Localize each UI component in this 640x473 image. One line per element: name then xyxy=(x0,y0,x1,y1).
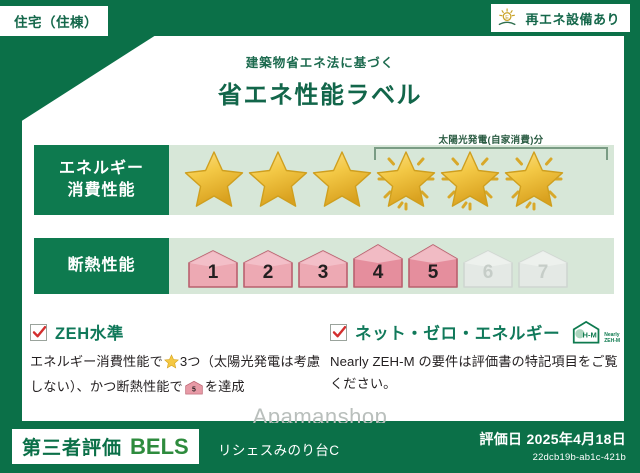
house-badge-1: 1 xyxy=(187,249,239,289)
energy-row-body: 太陽光発電(自家消費)分 xyxy=(169,145,614,215)
net-zero-text: Nearly ZEH-M の要件は評価書の特記項目をご覧ください。 xyxy=(330,351,622,395)
house-badge-scale: 1234567 xyxy=(169,243,569,289)
evaluation-date: 評価日 2025年4月18日 xyxy=(479,429,626,449)
inline-star-icon xyxy=(164,357,179,372)
insulation-row-body: 1234567 xyxy=(169,238,614,294)
renewable-tag: E 再エネ設備あり xyxy=(491,4,630,32)
category-tag: 住宅（住棟） xyxy=(0,6,108,36)
net-zero-title: ネット・ゼロ・エネルギー xyxy=(355,320,560,344)
building-name: リシェスみのり台C xyxy=(218,439,339,459)
star-filled xyxy=(183,149,245,211)
zeh-m-logo: H-M Nearly ZEH-M xyxy=(572,320,620,344)
zeh-m-logo-caption: Nearly ZEH-M xyxy=(604,333,620,344)
insulation-row-label: 断熱性能 xyxy=(34,238,169,294)
house-badge-number: 4 xyxy=(373,262,384,289)
label-frame: 住宅（住棟） E 再エネ設備あり 建築物省エネ法に基づく 省エネ性能ラベル xyxy=(0,0,640,473)
solar-bracket xyxy=(374,147,608,160)
evaluation-id: 22dcb19b-ab1c-421b xyxy=(479,452,626,463)
net-zero-head: ネット・ゼロ・エネルギー H-M Nearly ZEH-M xyxy=(330,320,622,344)
svg-text:5: 5 xyxy=(192,386,196,393)
sun-icon: E xyxy=(497,8,519,28)
checkbox-net-zero[interactable] xyxy=(330,324,347,341)
bels-badge-en: BELS xyxy=(130,434,189,460)
house-badge-5: 5 xyxy=(407,243,459,289)
house-badge-2: 2 xyxy=(242,249,294,289)
inline-house-badge: 5 xyxy=(185,380,203,402)
energy-rating-row: エネルギー 消費性能 太陽光発電(自家消費)分 xyxy=(34,145,614,215)
house-badge-number: 1 xyxy=(208,262,219,289)
house-badge-number: 2 xyxy=(263,262,274,289)
renewable-tag-label: 再エネ設備あり xyxy=(525,9,620,28)
house-badge-4: 4 xyxy=(352,243,404,289)
checkbox-zeh-standard[interactable] xyxy=(30,324,47,341)
house-badge-number: 7 xyxy=(538,262,549,289)
svg-text:E: E xyxy=(506,15,510,21)
house-badge-7: 7 xyxy=(517,249,569,289)
house-badge-number: 5 xyxy=(428,262,439,289)
title-block: 建築物省エネ法に基づく 省エネ性能ラベル xyxy=(0,52,640,110)
zeh-standard-box: ZEH水準 エネルギー消費性能で3つ（太陽光発電は考慮しない）、かつ断熱性能で5… xyxy=(30,320,322,402)
net-zero-energy-box: ネット・ゼロ・エネルギー H-M Nearly ZEH-M Nearly ZEH… xyxy=(330,320,622,395)
house-badge-number: 3 xyxy=(318,262,329,289)
house-badge-3: 3 xyxy=(297,249,349,289)
house-badge-6: 6 xyxy=(462,249,514,289)
zeh-standard-text: エネルギー消費性能で3つ（太陽光発電は考慮しない）、かつ断熱性能で5を達成 xyxy=(30,351,322,402)
star-filled xyxy=(311,149,373,211)
energy-row-label: エネルギー 消費性能 xyxy=(34,145,169,215)
svg-text:H-M: H-M xyxy=(583,330,597,339)
category-tag-label: 住宅（住棟） xyxy=(14,15,98,30)
bels-badge: 第三者評価 BELS xyxy=(12,429,199,464)
page-title: 省エネ性能ラベル xyxy=(0,75,640,110)
footer-bar: 第三者評価 BELS リシェスみのり台C 評価日 2025年4月18日 22dc… xyxy=(0,423,640,473)
zeh-standard-title: ZEH水準 xyxy=(55,320,124,344)
subtitle: 建築物省エネ法に基づく xyxy=(0,52,640,71)
bels-badge-ja: 第三者評価 xyxy=(22,433,122,460)
star-filled xyxy=(247,149,309,211)
evaluation-block: 評価日 2025年4月18日 22dcb19b-ab1c-421b xyxy=(479,429,626,463)
house-badge-number: 6 xyxy=(483,262,494,289)
zeh-standard-head: ZEH水準 xyxy=(30,320,322,344)
solar-caption: 太陽光発電(自家消費)分 xyxy=(374,132,608,146)
insulation-rating-row: 断熱性能 1234567 xyxy=(34,238,614,294)
